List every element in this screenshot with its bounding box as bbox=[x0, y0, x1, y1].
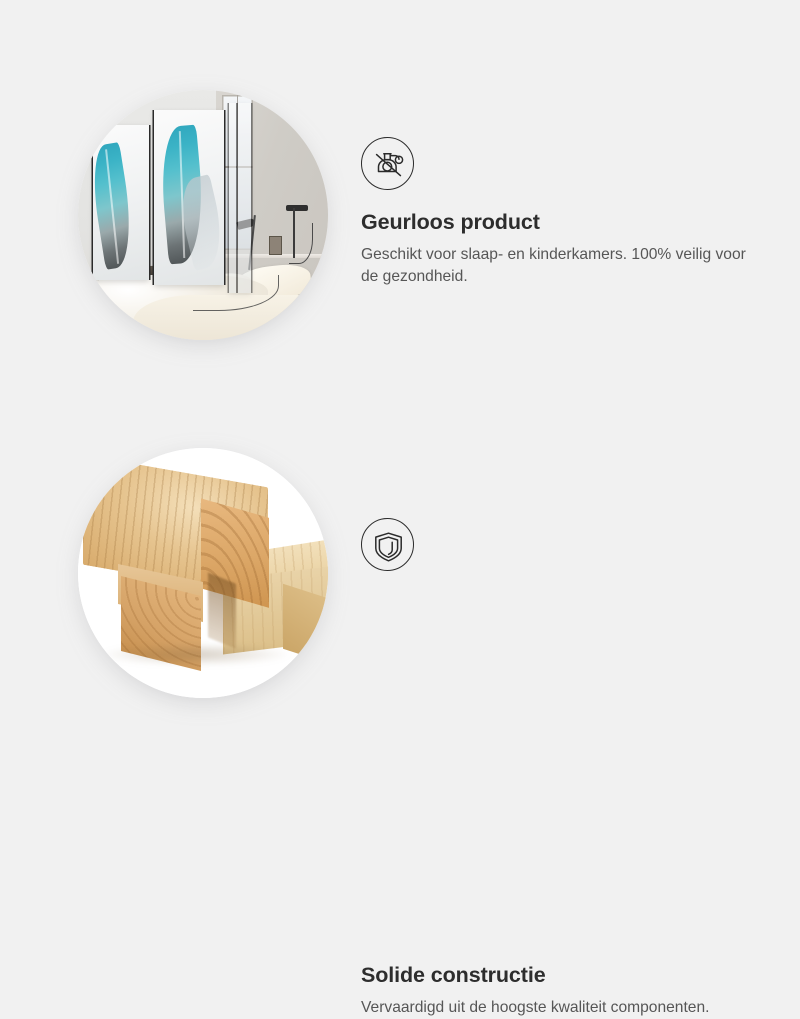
circular-photo-mask bbox=[78, 90, 328, 340]
wall-lamp-shade bbox=[286, 205, 309, 211]
feature-description: Vervaardigd uit de hoogste kwaliteit com… bbox=[361, 997, 751, 1019]
contact-shadow bbox=[98, 643, 293, 666]
circular-photo-mask bbox=[78, 448, 328, 698]
bedroom-scene bbox=[78, 90, 328, 340]
teal-feather-artwork bbox=[93, 142, 138, 270]
small-picture-frame bbox=[269, 236, 282, 255]
feature-text-column: Geurloos product Geschikt voor slaap- en… bbox=[361, 210, 761, 288]
bedroom-with-teal-feather-triptych-canvas-photo bbox=[78, 90, 328, 340]
feature-title: Geurloos product bbox=[361, 210, 761, 236]
feature-text-column: Solide constructie Vervaardigd uit de ho… bbox=[361, 963, 761, 1019]
wooden-beams-scene bbox=[78, 448, 328, 698]
shield-glyph bbox=[362, 519, 415, 572]
feature-description: Geschikt voor slaap- en kinderkamers. 10… bbox=[361, 244, 751, 288]
shield-icon bbox=[361, 518, 414, 571]
panel-edge-line bbox=[236, 103, 238, 293]
stacked-wooden-beams-photo bbox=[78, 448, 328, 698]
canvas-panel-center bbox=[154, 110, 224, 285]
canvas-panel-right bbox=[229, 103, 250, 293]
feature-block-solide-constructie: Solide constructie Vervaardigd uit de ho… bbox=[0, 400, 800, 800]
product-features-page: Geurloos product Geschikt voor slaap- en… bbox=[0, 0, 800, 800]
shadow-gap-between-beams bbox=[208, 572, 236, 648]
no-fragrance-perfume-bottle-icon bbox=[361, 137, 414, 190]
no-fragrance-glyph bbox=[362, 138, 415, 191]
feature-title: Solide constructie bbox=[361, 963, 761, 989]
feature-block-geurloos-product: Geurloos product Geschikt voor slaap- en… bbox=[0, 0, 800, 400]
canvas-panel-left bbox=[93, 125, 149, 280]
